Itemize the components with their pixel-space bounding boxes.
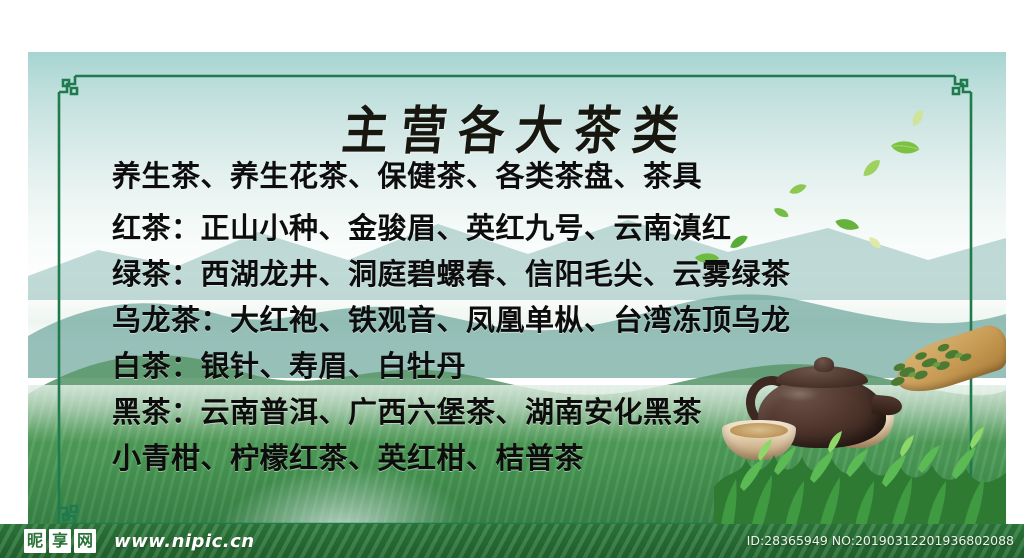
headline-line: 养生茶、养生花茶、保健茶、各类茶盘、茶具 (112, 162, 912, 191)
teapot-knob (814, 357, 834, 372)
watermark-bar: 昵 享 网 www.nipic.cn ID:28365949 NO:201903… (0, 524, 1024, 558)
logo-char-2: 享 (49, 529, 71, 553)
tea-bush-foreground (714, 415, 1006, 535)
category-line-green: 绿茶：西湖龙井、洞庭碧螺春、信阳毛尖、云雾绿茶 (112, 260, 912, 289)
logo-char-3: 网 (74, 529, 96, 553)
watermark-id-text: ID:28365949 NO:20190312201936802088 (747, 533, 1014, 548)
teapot-spout (871, 394, 903, 416)
logo-char-1: 昵 (24, 529, 46, 553)
teapot-highlight (778, 386, 820, 402)
nipic-logo: 昵 享 网 (24, 529, 96, 553)
page-title: 主营各大茶类 (28, 90, 1006, 164)
poster-canvas: 主营各大茶类 养生茶、养生花茶、保健茶、各类茶盘、茶具 红茶：正山小种、金骏眉、… (0, 0, 1024, 558)
teapot-scene (714, 330, 1006, 535)
poster-board: 主营各大茶类 养生茶、养生花茶、保健茶、各类茶盘、茶具 红茶：正山小种、金骏眉、… (28, 52, 1006, 535)
category-line-black-red: 红茶：正山小种、金骏眉、英红九号、云南滇红 (112, 214, 912, 243)
watermark-url[interactable]: www.nipic.cn (114, 531, 255, 552)
